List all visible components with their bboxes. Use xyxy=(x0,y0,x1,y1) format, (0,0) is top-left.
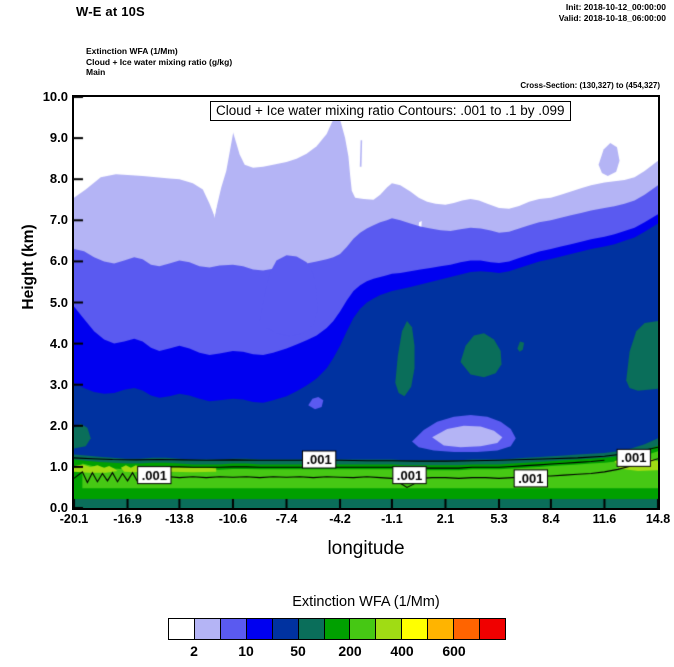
cross-section-label: Cross-Section: (130,327) to (454,327) xyxy=(520,81,660,90)
init-time: Init: 2018-10-12_00:00:00 xyxy=(559,2,666,13)
colorbar-tick-label: 200 xyxy=(325,643,375,659)
colorbar-tick-label: 600 xyxy=(429,643,479,659)
cross-section-plot: Cloud + Ice water mixing ratio Contours:… xyxy=(72,95,660,510)
colorbar-cell xyxy=(454,619,480,639)
valid-time: Valid: 2018-10-18_06:00:00 xyxy=(559,13,666,24)
colorbar-cell xyxy=(376,619,402,639)
contour-title-box: Cloud + Ice water mixing ratio Contours:… xyxy=(210,101,571,121)
colorbar-cell xyxy=(221,619,247,639)
x-tick-label: 2.1 xyxy=(415,512,475,526)
colorbar-cell xyxy=(195,619,221,639)
y-tick-label: 2.0 xyxy=(22,418,68,433)
page-title: W-E at 10S xyxy=(76,4,145,19)
colorbar-cell xyxy=(402,619,428,639)
x-axis-label: longitude xyxy=(72,538,660,560)
colorbar-cell xyxy=(480,619,505,639)
colorbar-cell xyxy=(428,619,454,639)
field-extinction-label: Extinction WFA (1/Mm) xyxy=(86,46,232,57)
field-mixing-ratio-label: Cloud + Ice water mixing ratio (g/kg) xyxy=(86,57,232,68)
colorbar-cell xyxy=(350,619,376,639)
field-description-block: Extinction WFA (1/Mm) Cloud + Ice water … xyxy=(86,46,232,78)
y-tick-label: 8.0 xyxy=(22,171,68,186)
extinction-shading-canvas xyxy=(74,97,658,508)
colorbar-cell xyxy=(247,619,273,639)
x-tick-label: -7.4 xyxy=(257,512,317,526)
colorbar-cell xyxy=(169,619,195,639)
y-tick-label: 10.0 xyxy=(22,89,68,104)
y-tick-label: 9.0 xyxy=(22,130,68,145)
colorbar xyxy=(168,618,506,640)
run-time-block: Init: 2018-10-12_00:00:00 Valid: 2018-10… xyxy=(559,2,666,24)
colorbar-cell xyxy=(299,619,325,639)
y-tick-label: 1.0 xyxy=(22,459,68,474)
x-tick-label: -13.8 xyxy=(149,512,209,526)
x-tick-label: 8.4 xyxy=(521,512,581,526)
colorbar-tick-label: 400 xyxy=(377,643,427,659)
y-tick-label: 4.0 xyxy=(22,336,68,351)
x-tick-label: 14.8 xyxy=(628,512,674,526)
colorbar-tick-label: 50 xyxy=(273,643,323,659)
x-tick-label: -10.6 xyxy=(203,512,263,526)
colorbar-tick-label: 10 xyxy=(221,643,271,659)
colorbar-title: Extinction WFA (1/Mm) xyxy=(72,594,660,610)
colorbar-cell xyxy=(273,619,299,639)
x-tick-label: 11.6 xyxy=(574,512,634,526)
y-axis-label: Height (km) xyxy=(20,202,38,332)
colorbar-cell xyxy=(325,619,351,639)
colorbar-tick-label: 2 xyxy=(169,643,219,659)
x-tick-label: -20.1 xyxy=(44,512,104,526)
y-tick-label: 3.0 xyxy=(22,377,68,392)
x-axis-ticks: -20.1-16.9-13.8-10.6-7.4-4.2-1.12.15.38.… xyxy=(72,512,660,534)
x-tick-label: -1.1 xyxy=(362,512,422,526)
field-domain-label: Main xyxy=(86,67,232,78)
colorbar-tick-labels: 21050200400600 xyxy=(168,643,506,665)
